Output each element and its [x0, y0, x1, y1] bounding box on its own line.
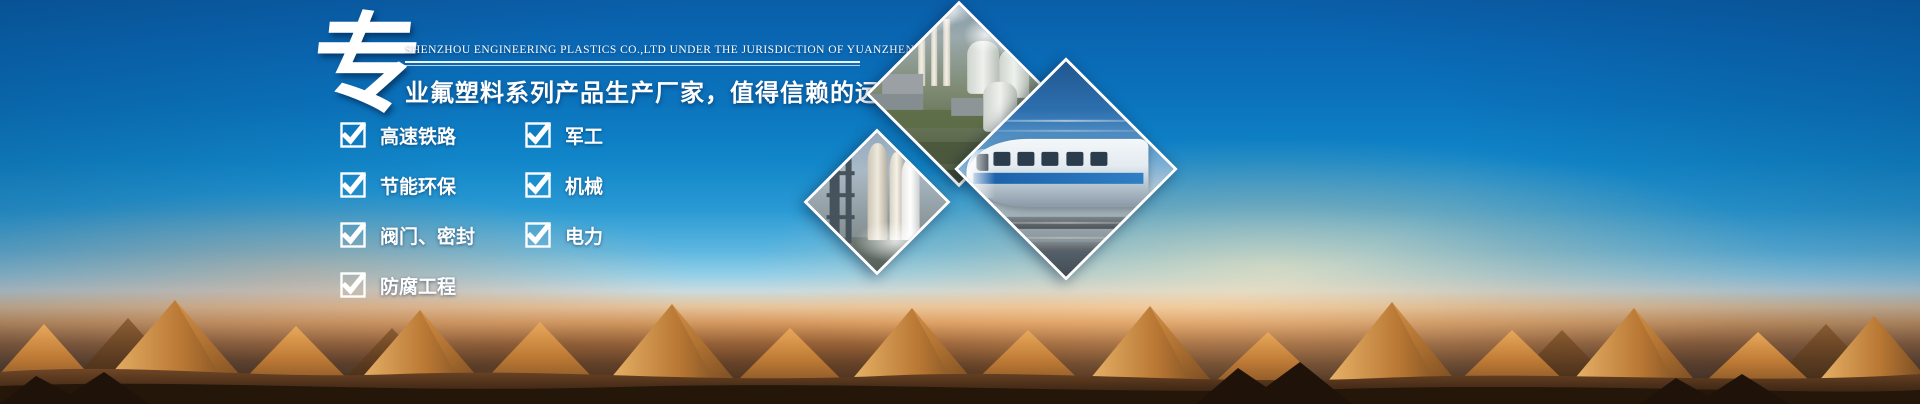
checkbox-checked-icon: [340, 222, 366, 248]
feature-item[interactable]: 军工: [525, 118, 603, 152]
feature-label: 阀门、密封: [380, 222, 475, 249]
feature-column-right: 军工 机械 电力: [525, 118, 603, 302]
feature-column-left: 高速铁路 节能环保 阀门、密封: [340, 118, 475, 302]
feature-label: 机械: [565, 172, 603, 199]
feature-label: 军工: [565, 122, 603, 149]
checkbox-checked-icon: [340, 172, 366, 198]
feature-label: 防腐工程: [380, 272, 456, 299]
checkbox-checked-icon: [340, 272, 366, 298]
divider-rules: [405, 61, 860, 66]
divider-rule-thick: [405, 61, 860, 63]
feature-item[interactable]: 防腐工程: [340, 268, 475, 302]
feature-label: 高速铁路: [380, 122, 456, 149]
checkbox-checked-icon: [525, 222, 551, 248]
checkbox-checked-icon: [340, 122, 366, 148]
feature-checklist: 高速铁路 节能环保 阀门、密封: [340, 118, 603, 302]
feature-item[interactable]: 电力: [525, 218, 603, 252]
feature-item[interactable]: 高速铁路: [340, 118, 475, 152]
divider-rule-thin: [405, 65, 860, 66]
hero-banner: 专 SHENZHOU ENGINEERING PLASTICS CO.,LTD …: [0, 0, 1920, 404]
feature-label: 节能环保: [380, 172, 456, 199]
feature-item[interactable]: 阀门、密封: [340, 218, 475, 252]
feature-item[interactable]: 节能环保: [340, 168, 475, 202]
checkbox-checked-icon: [525, 172, 551, 198]
feature-label: 电力: [565, 222, 603, 249]
diamond-photo-cluster: [815, 18, 1235, 288]
feature-item[interactable]: 机械: [525, 168, 603, 202]
checkbox-checked-icon: [525, 122, 551, 148]
